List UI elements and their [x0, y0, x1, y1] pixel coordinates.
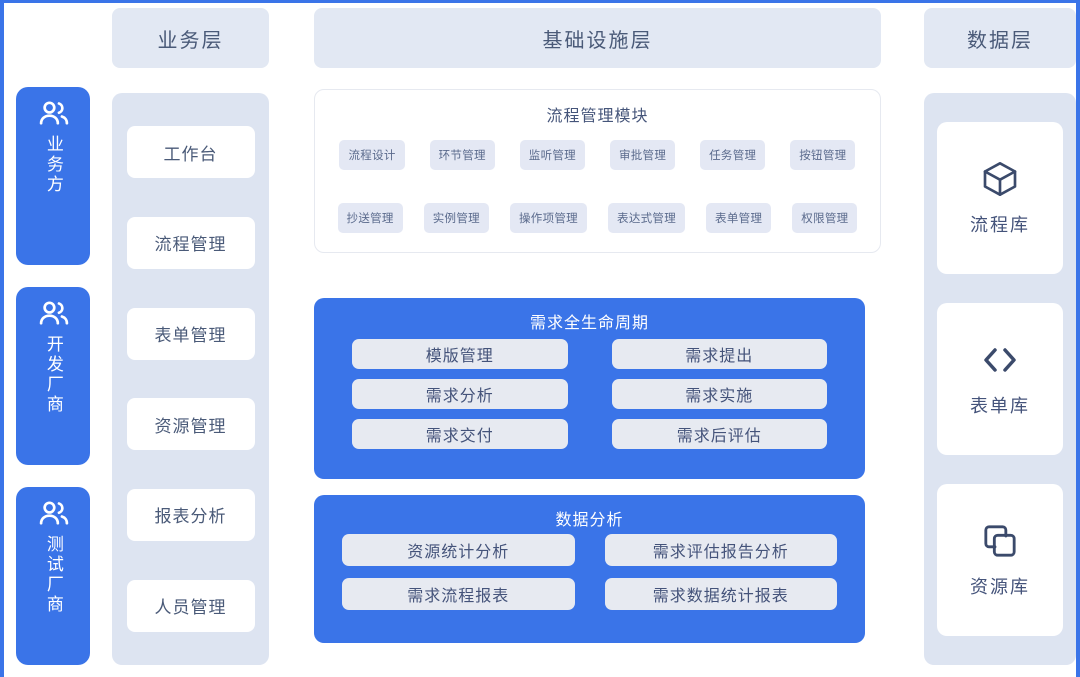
lifecycle-requirement-delivery[interactable]: 需求交付	[352, 419, 568, 449]
business-item-process-mgmt[interactable]: 流程管理	[127, 217, 255, 269]
lifecycle-requirement-raise[interactable]: 需求提出	[612, 339, 828, 369]
chip-node-mgmt[interactable]: 环节管理	[430, 140, 495, 170]
chip-task-mgmt[interactable]: 任务管理	[700, 140, 765, 170]
data-card-label: 资源库	[970, 573, 1030, 599]
code-brackets-icon	[980, 340, 1020, 380]
infrastructure-column: 流程管理模块 流程设计 环节管理 监听管理 审批管理 任务管理 按钮管理 抄送管…	[314, 89, 881, 649]
role-rail: 业务方 开发厂商 测试厂商	[16, 87, 90, 665]
process-module-title: 流程管理模块	[315, 102, 880, 126]
chip-permission-mgmt[interactable]: 权限管理	[792, 203, 857, 233]
chip-approval-mgmt[interactable]: 审批管理	[610, 140, 675, 170]
infrastructure-layer-header: 基础设施层	[314, 8, 881, 68]
chip-cc-mgmt[interactable]: 抄送管理	[338, 203, 403, 233]
cube-icon	[980, 159, 1020, 199]
lifecycle-post-evaluation[interactable]: 需求后评估	[612, 419, 828, 449]
process-management-module: 流程管理模块 流程设计 环节管理 监听管理 审批管理 任务管理 按钮管理 抄送管…	[314, 89, 881, 253]
chip-operation-mgmt[interactable]: 操作项管理	[510, 203, 587, 233]
architecture-diagram: 业务层 基础设施层 数据层 业务方	[0, 0, 1080, 677]
data-card-process-repository[interactable]: 流程库	[937, 122, 1063, 274]
data-layer-panel: 流程库 表单库 资源库	[924, 93, 1076, 665]
role-card-business-party[interactable]: 业务方	[16, 87, 90, 265]
business-layer-panel: 工作台 流程管理 表单管理 资源管理 报表分析 人员管理	[112, 93, 269, 665]
lifecycle-template-mgmt[interactable]: 模版管理	[352, 339, 568, 369]
process-chip-row-1: 流程设计 环节管理 监听管理 审批管理 任务管理 按钮管理	[315, 140, 880, 170]
chip-button-mgmt[interactable]: 按钮管理	[790, 140, 855, 170]
chip-form-mgmt[interactable]: 表单管理	[706, 203, 771, 233]
chip-listener-mgmt[interactable]: 监听管理	[520, 140, 585, 170]
analysis-grid: 资源统计分析 需求评估报告分析 需求流程报表 需求数据统计报表	[314, 530, 865, 624]
data-card-label: 表单库	[970, 392, 1030, 418]
role-card-dev-vendor[interactable]: 开发厂商	[16, 287, 90, 465]
business-item-resource-mgmt[interactable]: 资源管理	[127, 398, 255, 450]
analysis-resource-statistics[interactable]: 资源统计分析	[342, 534, 575, 566]
lifecycle-grid: 模版管理 需求提出 需求分析 需求实施 需求交付 需求后评估	[314, 333, 865, 461]
business-item-form-mgmt[interactable]: 表单管理	[127, 308, 255, 360]
process-chip-row-2: 抄送管理 实例管理 操作项管理 表达式管理 表单管理 权限管理	[315, 203, 880, 233]
data-card-resource-repository[interactable]: 资源库	[937, 484, 1063, 636]
requirement-lifecycle-panel: 需求全生命周期 模版管理 需求提出 需求分析 需求实施 需求交付 需求后评估	[314, 298, 865, 479]
lifecycle-requirement-implement[interactable]: 需求实施	[612, 379, 828, 409]
analysis-evaluation-report[interactable]: 需求评估报告分析	[605, 534, 838, 566]
users-icon	[36, 297, 70, 331]
role-card-test-vendor[interactable]: 测试厂商	[16, 487, 90, 665]
role-label: 测试厂商	[42, 535, 64, 615]
business-item-report-analysis[interactable]: 报表分析	[127, 489, 255, 541]
role-label: 开发厂商	[42, 335, 64, 415]
analysis-panel-title: 数据分析	[314, 495, 865, 530]
users-icon	[36, 497, 70, 531]
data-card-label: 流程库	[970, 211, 1030, 237]
lifecycle-requirement-analysis[interactable]: 需求分析	[352, 379, 568, 409]
analysis-process-report[interactable]: 需求流程报表	[342, 578, 575, 610]
business-layer-header: 业务层	[112, 8, 269, 68]
copy-squares-icon	[980, 521, 1020, 561]
chip-instance-mgmt[interactable]: 实例管理	[424, 203, 489, 233]
chip-expression-mgmt[interactable]: 表达式管理	[608, 203, 685, 233]
data-analysis-panel: 数据分析 资源统计分析 需求评估报告分析 需求流程报表 需求数据统计报表	[314, 495, 865, 643]
data-layer-header: 数据层	[924, 8, 1076, 68]
business-item-workbench[interactable]: 工作台	[127, 126, 255, 178]
users-icon	[36, 97, 70, 131]
lifecycle-panel-title: 需求全生命周期	[314, 298, 865, 333]
business-item-personnel-mgmt[interactable]: 人员管理	[127, 580, 255, 632]
chip-process-design[interactable]: 流程设计	[339, 140, 404, 170]
data-card-form-repository[interactable]: 表单库	[937, 303, 1063, 455]
role-label: 业务方	[42, 135, 64, 195]
analysis-data-statistics-report[interactable]: 需求数据统计报表	[605, 578, 838, 610]
